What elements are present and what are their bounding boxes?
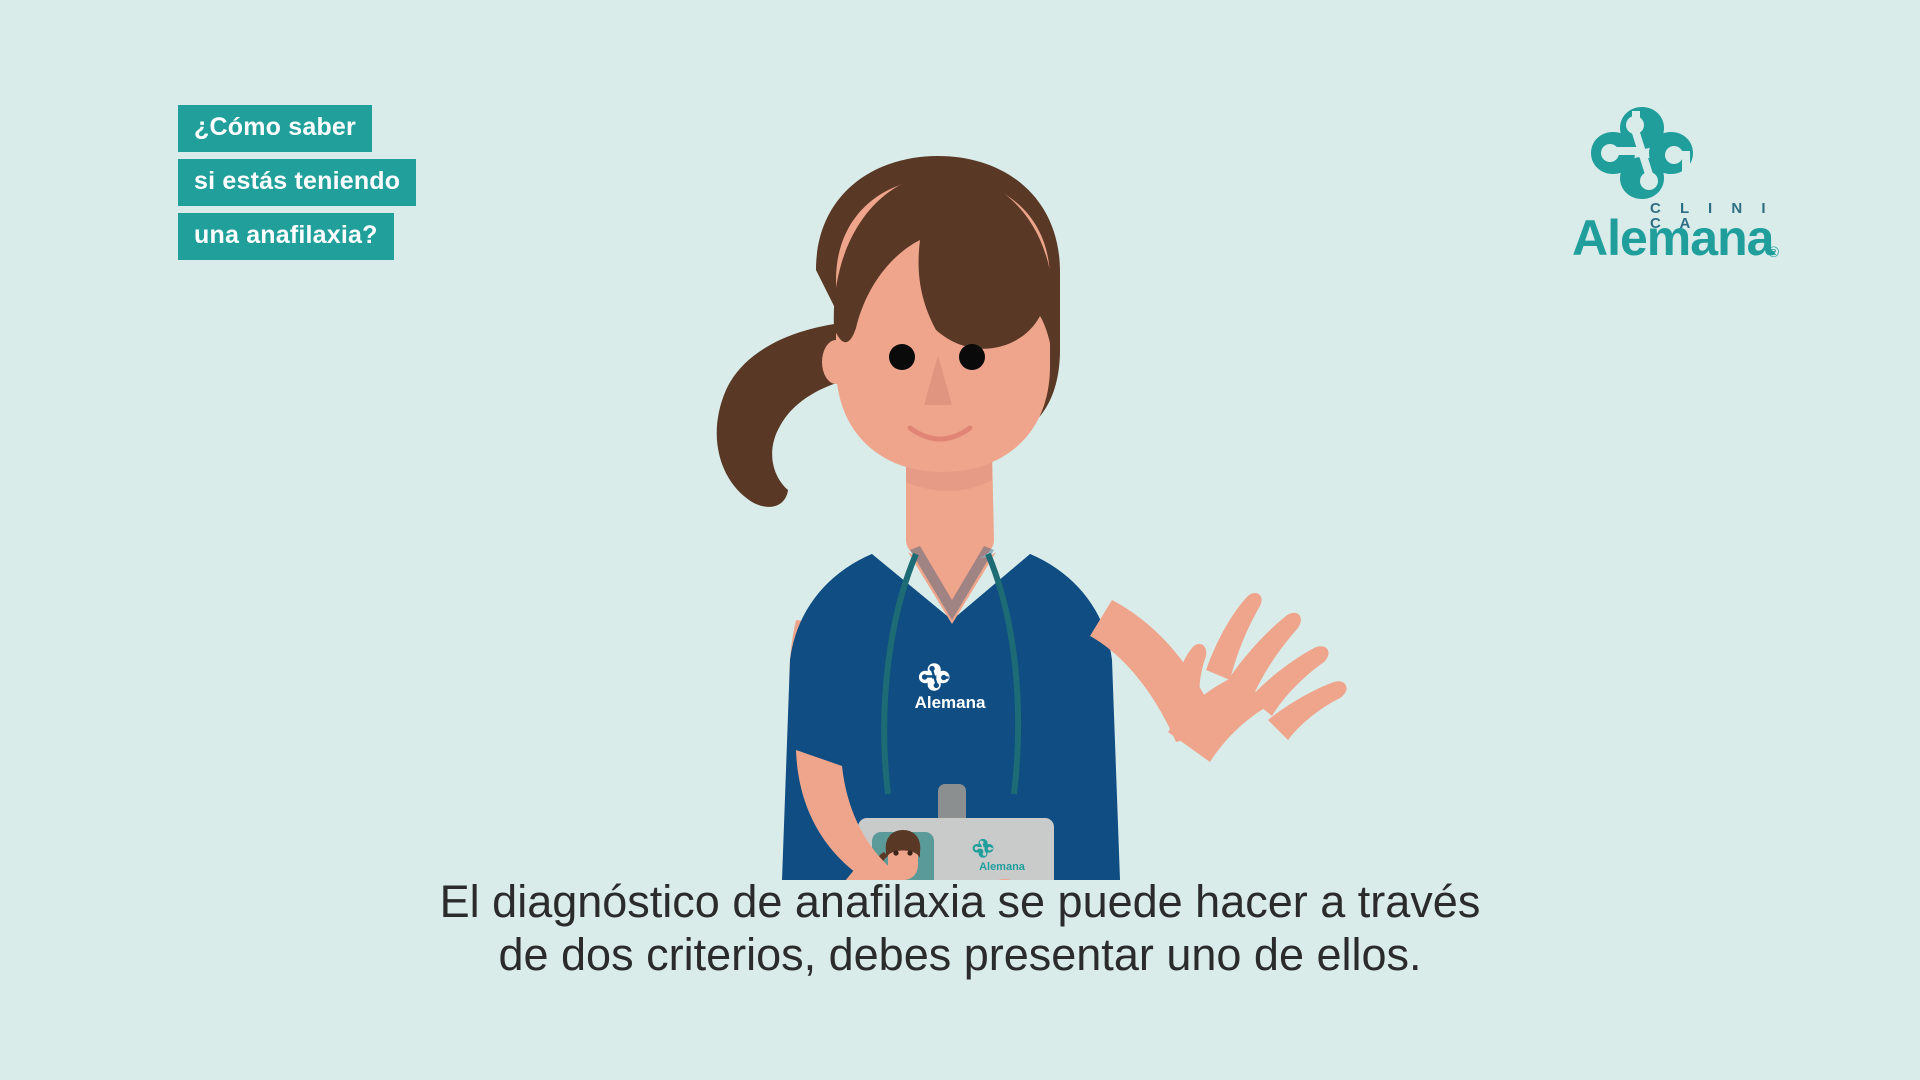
nurse-illustration: Alemana: [620, 150, 1400, 880]
caption-block: El diagnóstico de anafilaxia se puede ha…: [0, 875, 1920, 981]
eye-right: [959, 344, 985, 370]
brand-logo: C L I N I C A Alemana ®: [1572, 103, 1802, 258]
headline-line-3: una anafilaxia?: [178, 213, 394, 260]
brand-alemana-text: Alemana: [1572, 213, 1773, 263]
registered-mark-icon: ®: [1768, 245, 1779, 260]
headline-line-2: si estás teniendo: [178, 159, 416, 206]
clinica-alemana-quatrefoil-emblem: [1588, 103, 1696, 203]
caption-line-2: de dos criterios, debes presentar uno de…: [0, 928, 1920, 981]
slide-canvas: ¿Cómo saber si estás teniendo una anafil…: [0, 0, 1920, 1080]
eye-left: [889, 344, 915, 370]
caption-line-1: El diagnóstico de anafilaxia se puede ha…: [0, 875, 1920, 928]
brand-wordmark: C L I N I C A Alemana ®: [1572, 201, 1802, 259]
headline-block: ¿Cómo saber si estás teniendo una anafil…: [178, 105, 416, 260]
hand-raised: [1168, 593, 1347, 762]
badge-logo-text: Alemana: [979, 861, 1026, 873]
chest-logo-text: Alemana: [915, 693, 986, 712]
headline-line-1: ¿Cómo saber: [178, 105, 372, 152]
